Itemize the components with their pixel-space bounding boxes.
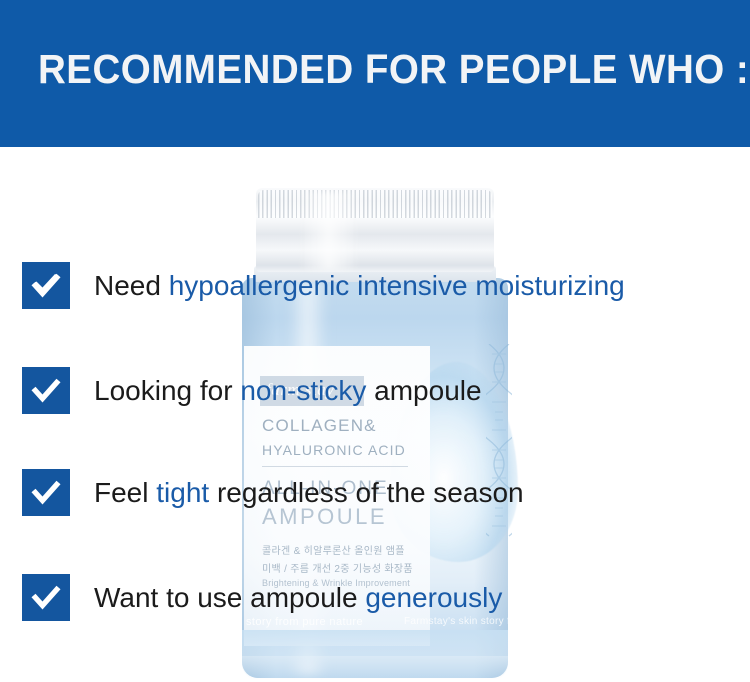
checklist-item-moisturizing[interactable]: Need hypoallergenic intensive moisturizi… <box>22 262 742 309</box>
text-highlight: hypoallergenic intensive moisturizing <box>169 270 625 301</box>
header-banner: RECOMMENDED FOR PEOPLE WHO : <box>0 0 750 147</box>
text-plain-tail: ampoule <box>366 375 481 406</box>
checkbox-moisturizing[interactable] <box>22 262 70 309</box>
checklist-item-non-sticky[interactable]: Looking for non-sticky ampoule <box>22 367 742 414</box>
check-icon <box>31 585 61 611</box>
text-plain-tail: regardless of the season <box>209 477 523 508</box>
checklist-label-tight-skin: Feel tight regardless of the season <box>94 469 524 516</box>
checklist-label-moisturizing: Need hypoallergenic intensive moisturizi… <box>94 262 625 309</box>
check-icon <box>31 378 61 404</box>
checklist-label-non-sticky: Looking for non-sticky ampoule <box>94 367 482 414</box>
checklist-label-generous-use: Want to use ampoule generously <box>94 574 502 621</box>
text-plain: Need <box>94 270 169 301</box>
text-highlight: tight <box>156 477 209 508</box>
text-plain: Want to use ampoule <box>94 582 365 613</box>
text-plain: Looking for <box>94 375 240 406</box>
page-title: RECOMMENDED FOR PEOPLE WHO : <box>38 46 749 93</box>
text-highlight: generously <box>365 582 502 613</box>
text-highlight: non-sticky <box>240 375 366 406</box>
checklist-item-generous-use[interactable]: Want to use ampoule generously <box>22 574 742 621</box>
checkbox-tight-skin[interactable] <box>22 469 70 516</box>
promo-page: farm stay COLLAGEN& HYALURONIC ACID ALL-… <box>0 0 750 682</box>
checklist-item-tight-skin[interactable]: Feel tight regardless of the season <box>22 469 742 516</box>
text-plain: Feel <box>94 477 156 508</box>
checkbox-generous-use[interactable] <box>22 574 70 621</box>
checkbox-non-sticky[interactable] <box>22 367 70 414</box>
check-icon <box>31 480 61 506</box>
check-icon <box>31 273 61 299</box>
